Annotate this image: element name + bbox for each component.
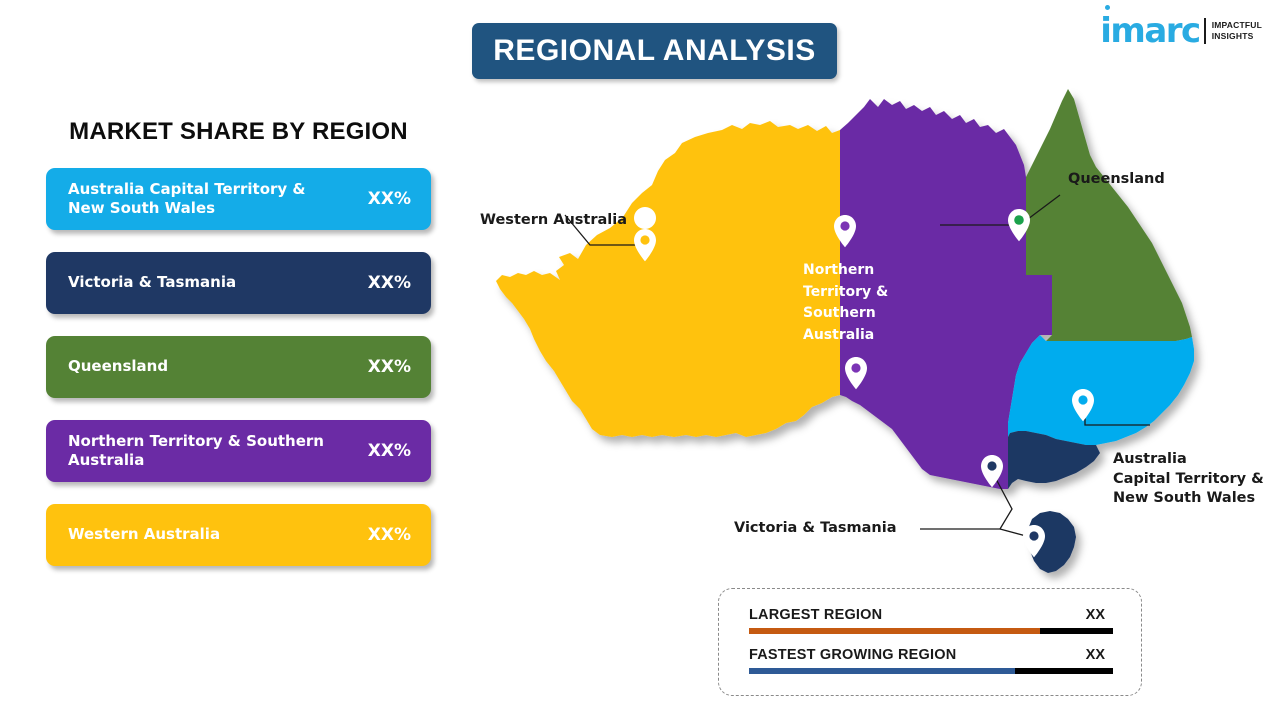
- legend-value: XX%: [368, 525, 411, 545]
- legend-card-queensland[interactable]: Queensland XX%: [46, 336, 431, 398]
- stat-value: XX: [1086, 607, 1105, 623]
- logo-wordmark: imarc: [1100, 14, 1199, 48]
- stat-row-fastest-growing-region: FASTEST GROWING REGION XX: [749, 647, 1113, 674]
- logo-tagline-line1: IMPACTFUL: [1212, 20, 1262, 31]
- page-title-banner: REGIONAL ANALYSIS: [472, 23, 837, 79]
- logo-tagline-line2: INSIGHTS: [1212, 31, 1262, 42]
- legend-card-act-nsw[interactable]: Australia Capital Territory & New South …: [46, 168, 431, 230]
- legend-value: XX%: [368, 189, 411, 209]
- stat-label: FASTEST GROWING REGION: [749, 647, 956, 663]
- legend-label: Northern Territory & Southern Australia: [68, 432, 333, 470]
- logo-tagline: IMPACTFUL INSIGHTS: [1212, 20, 1262, 41]
- stat-row-largest-region: LARGEST REGION XX: [749, 607, 1113, 634]
- stat-bar-fill: [749, 628, 1040, 634]
- legend-card-victoria-tasmania[interactable]: Victoria & Tasmania XX%: [46, 252, 431, 314]
- legend-value: XX%: [368, 273, 411, 293]
- legend-value: XX%: [368, 441, 411, 461]
- legend-label: Western Australia: [68, 525, 220, 544]
- legend-value: XX%: [368, 357, 411, 377]
- map-label-western-australia: Western Australia: [480, 211, 627, 231]
- logo-dot-icon: [1105, 5, 1110, 10]
- australia-map: Western Australia Northern Territory & S…: [460, 85, 1280, 605]
- legend-card-northern-territory[interactable]: Northern Territory & Southern Australia …: [46, 420, 431, 482]
- map-region-act-nsw[interactable]: [1008, 335, 1194, 445]
- legend-label: Queensland: [68, 357, 168, 376]
- imarc-logo: imarc IMPACTFUL INSIGHTS: [1100, 14, 1262, 48]
- stat-value: XX: [1086, 647, 1105, 663]
- legend-label: Victoria & Tasmania: [68, 273, 236, 292]
- logo-divider: [1204, 18, 1206, 44]
- market-share-panel: MARKET SHARE BY REGION Australia Capital…: [46, 118, 431, 588]
- legend-label: Australia Capital Territory & New South …: [68, 180, 333, 218]
- map-region-western-australia[interactable]: [496, 121, 840, 437]
- page-title: REGIONAL ANALYSIS: [493, 34, 815, 68]
- map-label-victoria-tasmania: Victoria & Tasmania: [734, 519, 896, 539]
- map-label-queensland: Queensland: [1068, 170, 1165, 190]
- panel-heading: MARKET SHARE BY REGION: [46, 118, 431, 146]
- map-label-act-nsw: Australia Capital Territory & New South …: [1113, 450, 1264, 509]
- legend-card-western-australia[interactable]: Western Australia XX%: [46, 504, 431, 566]
- logo-word-text: imarc: [1100, 11, 1199, 51]
- stat-label: LARGEST REGION: [749, 607, 882, 623]
- stat-bar-fill: [749, 668, 1015, 674]
- region-stats-box: LARGEST REGION XX FASTEST GROWING REGION…: [718, 588, 1142, 696]
- stat-bar-track: [749, 628, 1113, 634]
- stat-bar-track: [749, 668, 1113, 674]
- map-label-northern-territory: Northern Territory & Southern Australia: [803, 260, 888, 347]
